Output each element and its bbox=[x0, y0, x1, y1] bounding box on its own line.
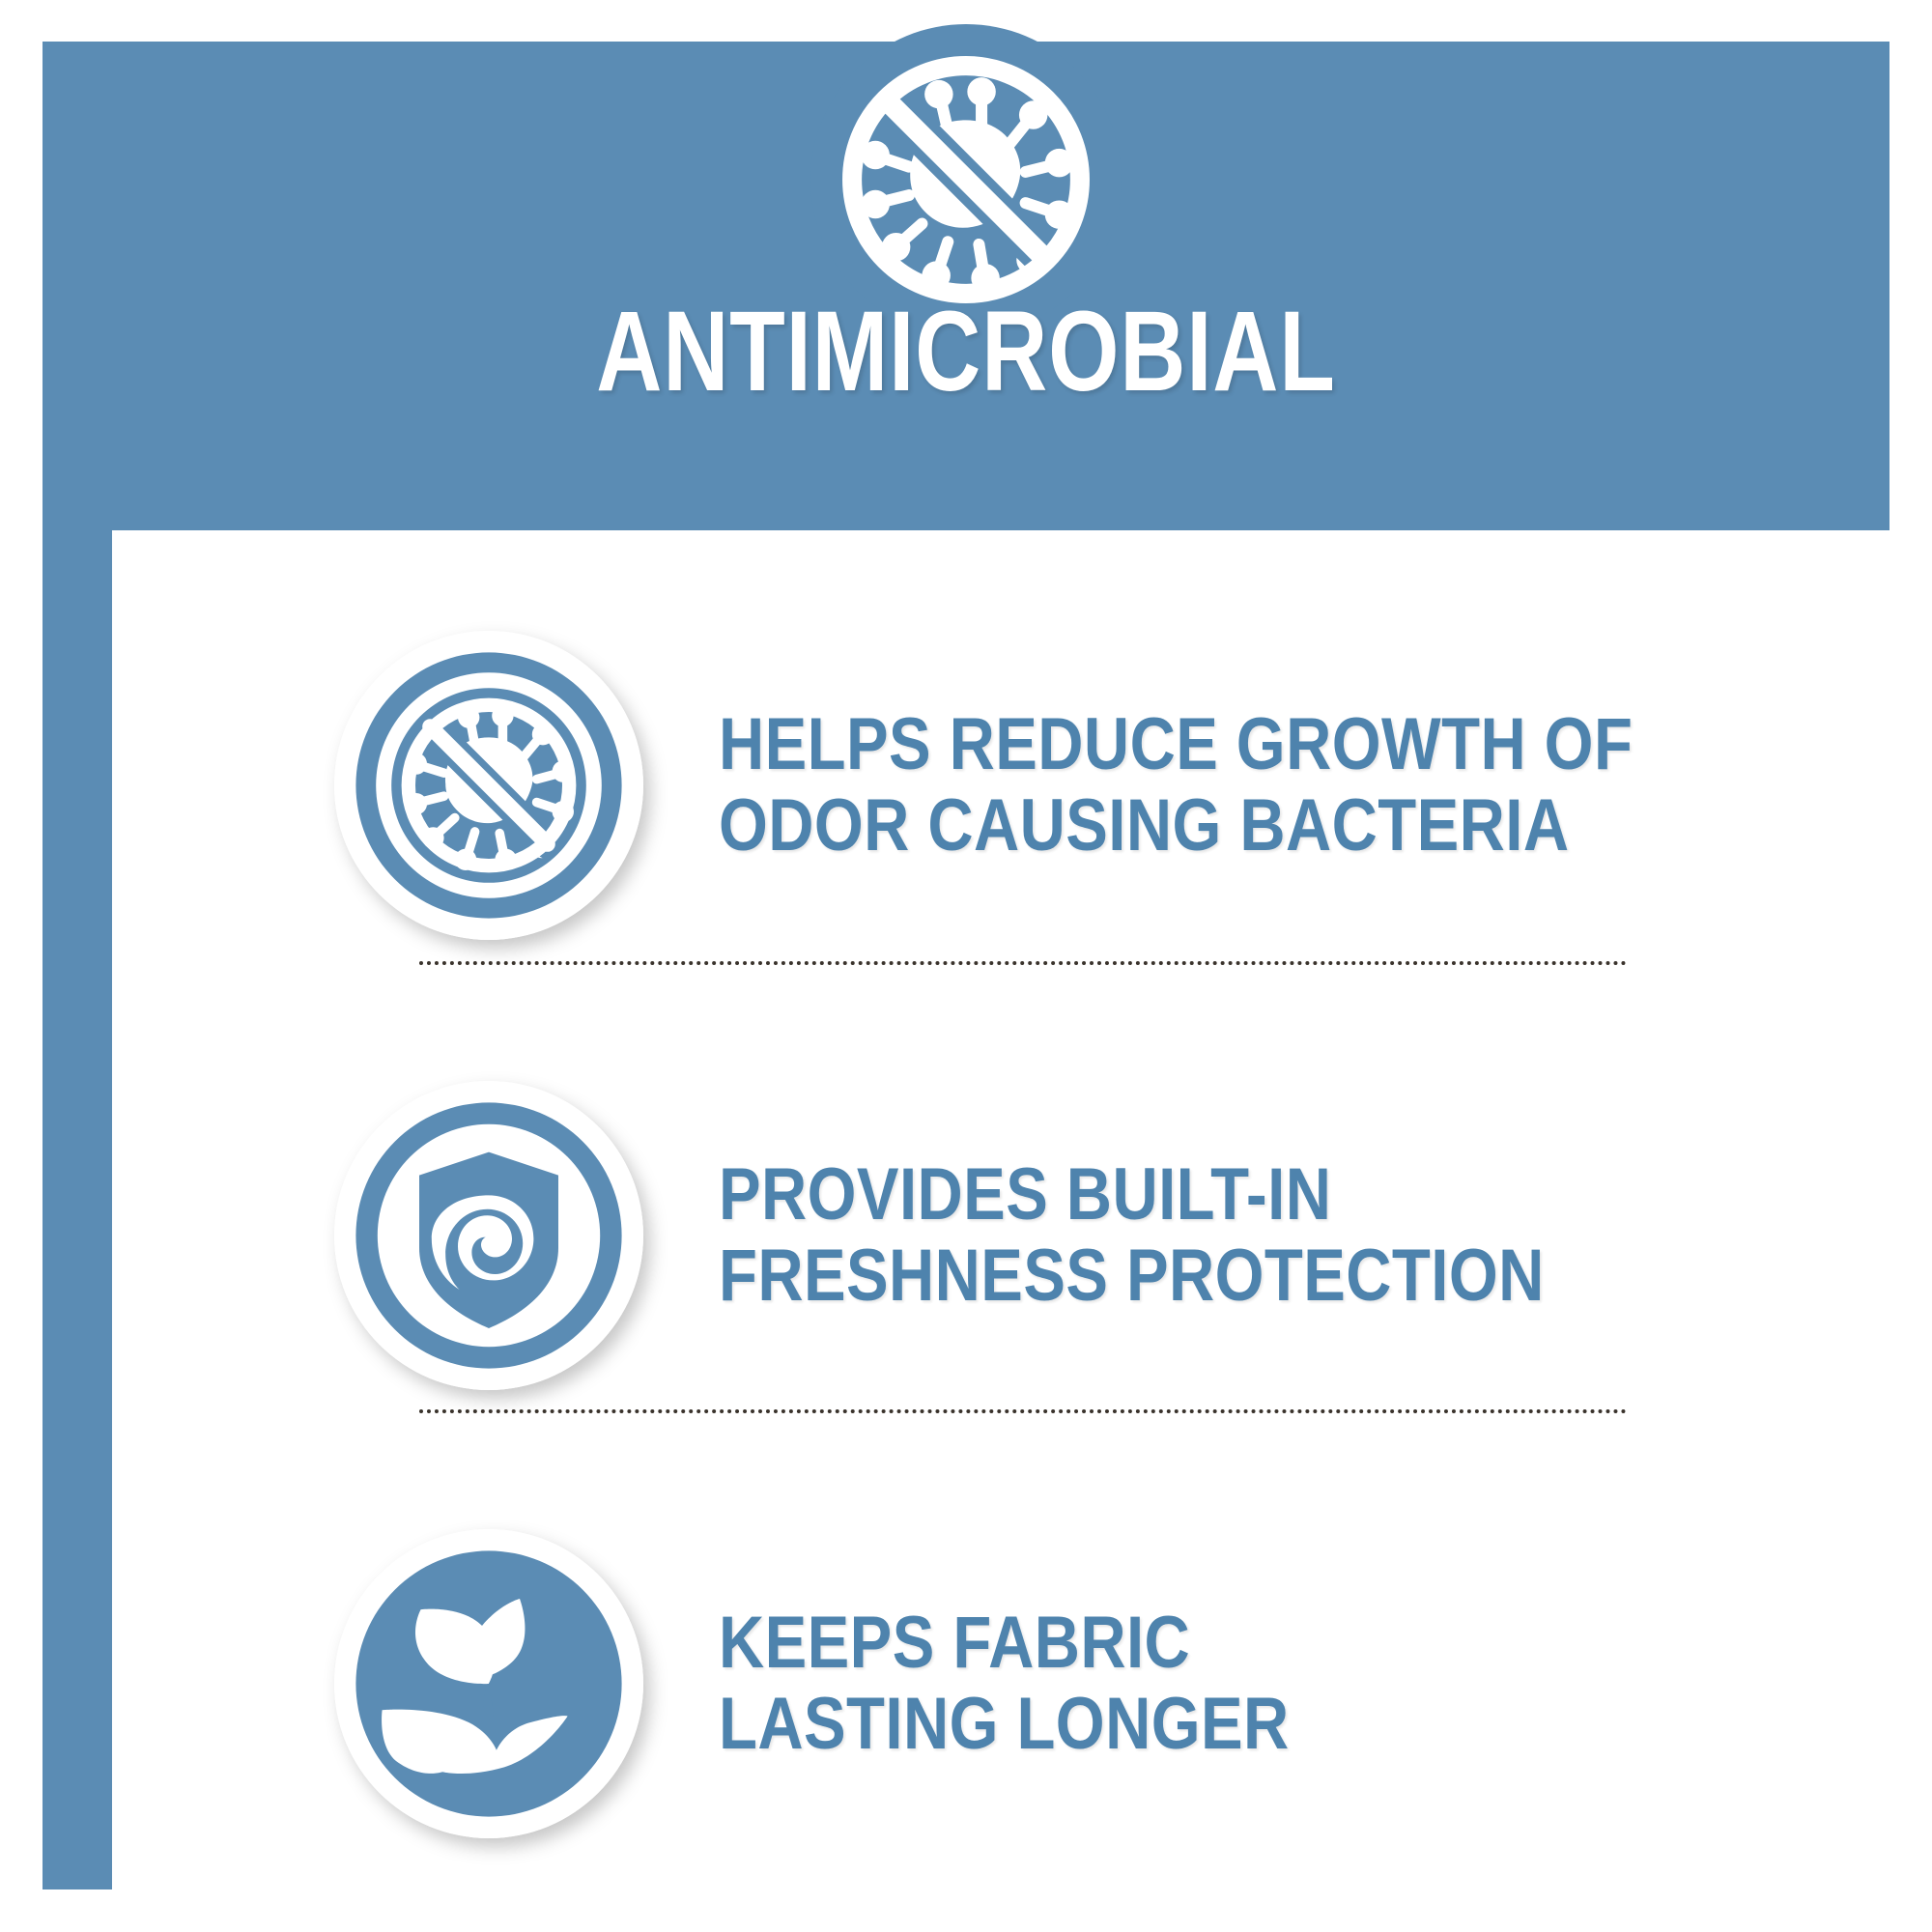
leaf-plant-icon bbox=[334, 1529, 643, 1838]
no-germ-circle-icon bbox=[334, 631, 643, 940]
feature-row: PROVIDES BUILT-IN FRESHNESS PROTECTION bbox=[112, 1033, 1905, 1438]
leaf-plant-badge bbox=[334, 1529, 643, 1838]
page-title: ANTIMICROBIAL bbox=[227, 295, 1705, 409]
feature-icon-wrap bbox=[334, 1529, 643, 1838]
feature-icon-wrap bbox=[334, 1081, 643, 1390]
no-germ-circle-badge bbox=[334, 631, 643, 940]
feature-icon-wrap bbox=[334, 631, 643, 940]
feature-list: HELPS REDUCE GROWTH OF ODOR CAUSING BACT… bbox=[112, 530, 1905, 1904]
blue-frame: ANTIMICROBIAL bbox=[43, 42, 1889, 1889]
feature-row: HELPS REDUCE GROWTH OF ODOR CAUSING BACT… bbox=[112, 582, 1905, 988]
feature-label: PROVIDES BUILT-IN FRESHNESS PROTECTION bbox=[719, 1154, 1545, 1316]
no-germ-icon bbox=[837, 50, 1095, 309]
shield-swirl-badge bbox=[334, 1081, 643, 1390]
divider-2 bbox=[419, 1409, 1627, 1413]
feature-label: HELPS REDUCE GROWTH OF ODOR CAUSING BACT… bbox=[719, 704, 1633, 866]
feature-label: KEEPS FABRIC LASTING LONGER bbox=[719, 1603, 1290, 1764]
divider-1 bbox=[419, 961, 1627, 965]
antimicrobial-infographic: ANTIMICROBIAL bbox=[0, 0, 1932, 1932]
shield-swirl-icon bbox=[334, 1081, 643, 1390]
feature-row: KEEPS FABRIC LASTING LONGER bbox=[112, 1481, 1905, 1887]
